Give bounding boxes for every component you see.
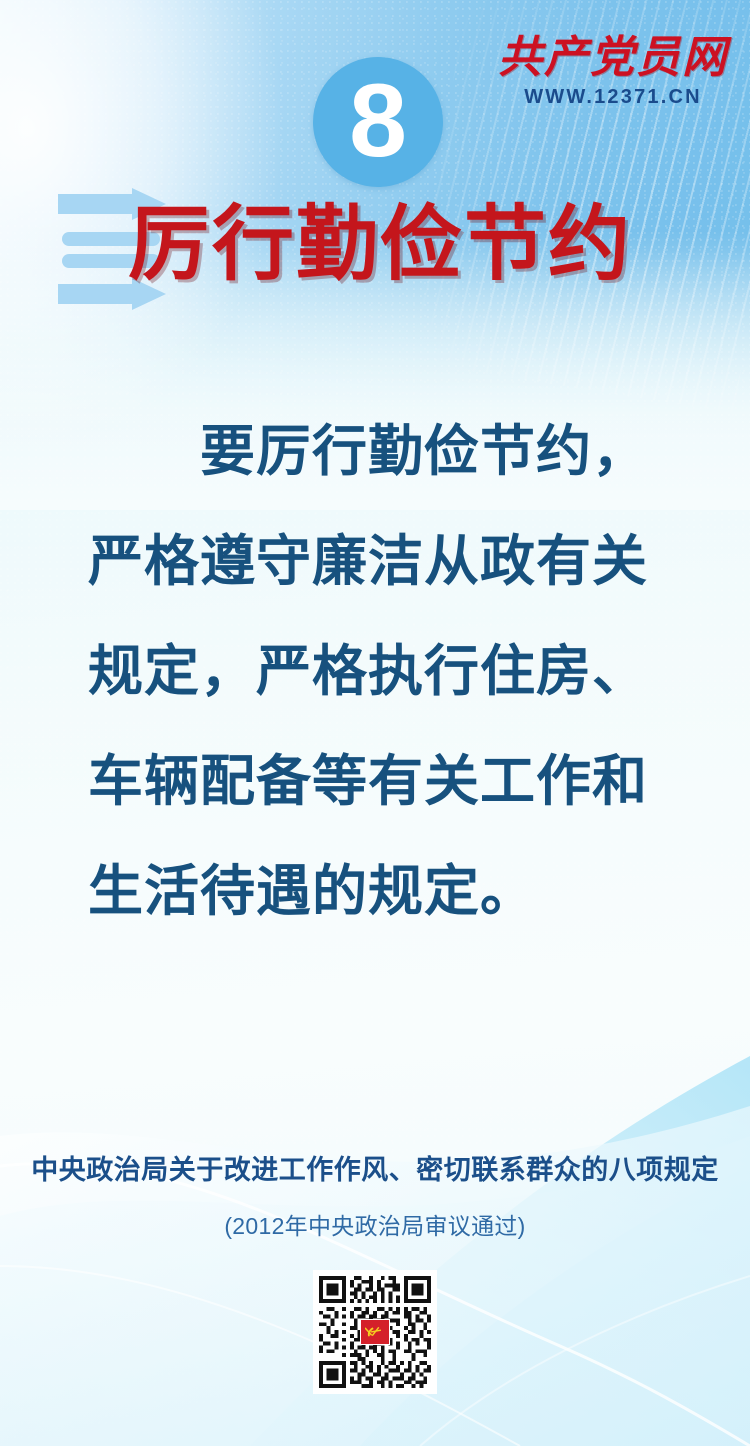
footer-block: 中央政治局关于改进工作作风、密切联系群众的八项规定 (2012年中央政治局审议通… bbox=[0, 1148, 750, 1241]
number-badge-value: 8 bbox=[313, 57, 443, 187]
body-line: 严格遵守廉洁从政有关 bbox=[88, 506, 662, 616]
poster-root: 共产党员网 WWW.12371.CN 8 厉行勤俭节约 要厉行勤俭节约， 严格遵… bbox=[0, 0, 750, 1446]
footer-title: 中央政治局关于改进工作作风、密切联系群众的八项规定 bbox=[0, 1148, 750, 1187]
party-emblem-icon bbox=[360, 1319, 390, 1345]
qr-code-icon[interactable] bbox=[313, 1270, 437, 1394]
body-text-block: 要厉行勤俭节约， 严格遵守廉洁从政有关 规定，严格执行住房、 车辆配备等有关工作… bbox=[0, 396, 750, 946]
page-title: 厉行勤俭节约 bbox=[128, 201, 632, 290]
body-line: 生活待遇的规定。 bbox=[88, 836, 662, 946]
body-line: 规定，严格执行住房、 bbox=[88, 616, 662, 726]
logo-url: WWW.12371.CN bbox=[498, 87, 728, 107]
logo-wordmark: 共产党员网 bbox=[498, 36, 728, 80]
body-line: 车辆配备等有关工作和 bbox=[88, 726, 662, 836]
body-line: 要厉行勤俭节约， bbox=[88, 396, 662, 506]
site-logo: 共产党员网 WWW.12371.CN bbox=[498, 36, 728, 107]
footer-subtitle: (2012年中央政治局审议通过) bbox=[0, 1207, 750, 1241]
number-badge: 8 bbox=[313, 57, 443, 187]
